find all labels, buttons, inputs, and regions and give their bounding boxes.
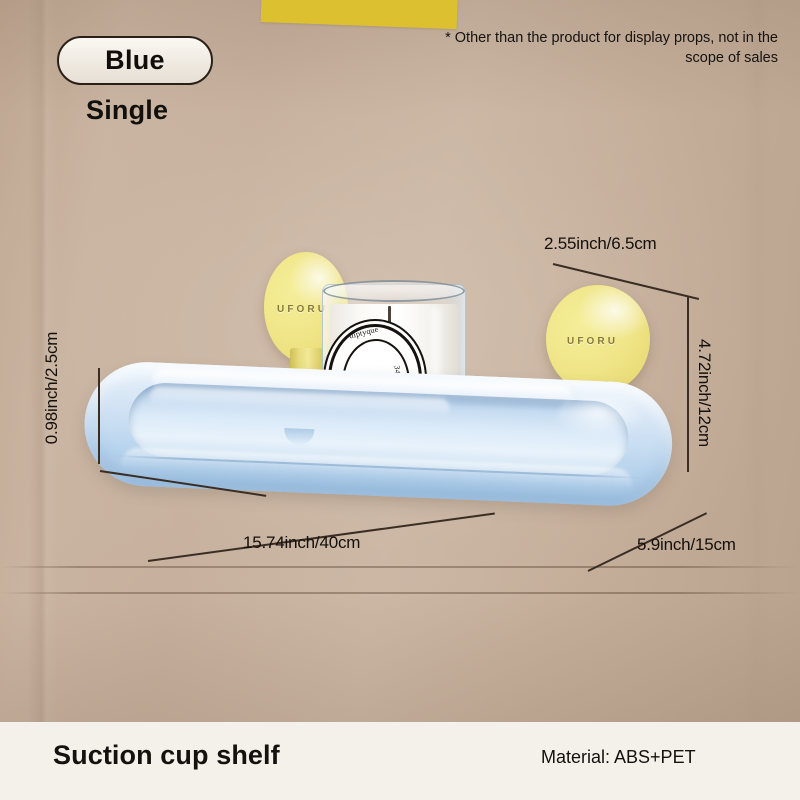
disclaimer-text: * Other than the product for display pro… bbox=[428, 28, 778, 68]
dimension-tick-rim-height bbox=[98, 368, 100, 464]
dimension-label-bracket-width: 2.55inch/6.5cm bbox=[544, 234, 657, 254]
suction-cup-shelf bbox=[81, 354, 677, 529]
footer-material-text: Material: ABS+PET bbox=[541, 747, 696, 768]
dimension-label-shelf-depth: 5.9inch/15cm bbox=[637, 535, 736, 555]
dimension-tick-bracket-height bbox=[687, 296, 689, 472]
suction-cup-right-brand: UFORU bbox=[567, 336, 618, 347]
dimension-label-shelf-length: 15.74inch/40cm bbox=[243, 533, 360, 553]
dimension-label-rim-height: 0.98inch/2.5cm bbox=[42, 313, 62, 463]
suction-cup-left-brand: UFORU bbox=[277, 304, 328, 315]
footer-product-title: Suction cup shelf bbox=[53, 740, 280, 771]
dimension-label-bracket-height: 4.72inch/12cm bbox=[694, 322, 714, 464]
color-variant-label: Blue bbox=[105, 47, 165, 74]
candle-wick bbox=[388, 306, 391, 323]
shelf-right-gloss bbox=[554, 393, 668, 456]
product-image-scene: Blue Single * Other than the product for… bbox=[0, 0, 800, 800]
footer-bar: Suction cup shelf Material: ABS+PET bbox=[0, 722, 800, 800]
candle-glass-rim bbox=[323, 280, 465, 302]
quantity-variant-label: Single bbox=[86, 95, 168, 126]
color-variant-badge[interactable]: Blue bbox=[57, 36, 213, 85]
